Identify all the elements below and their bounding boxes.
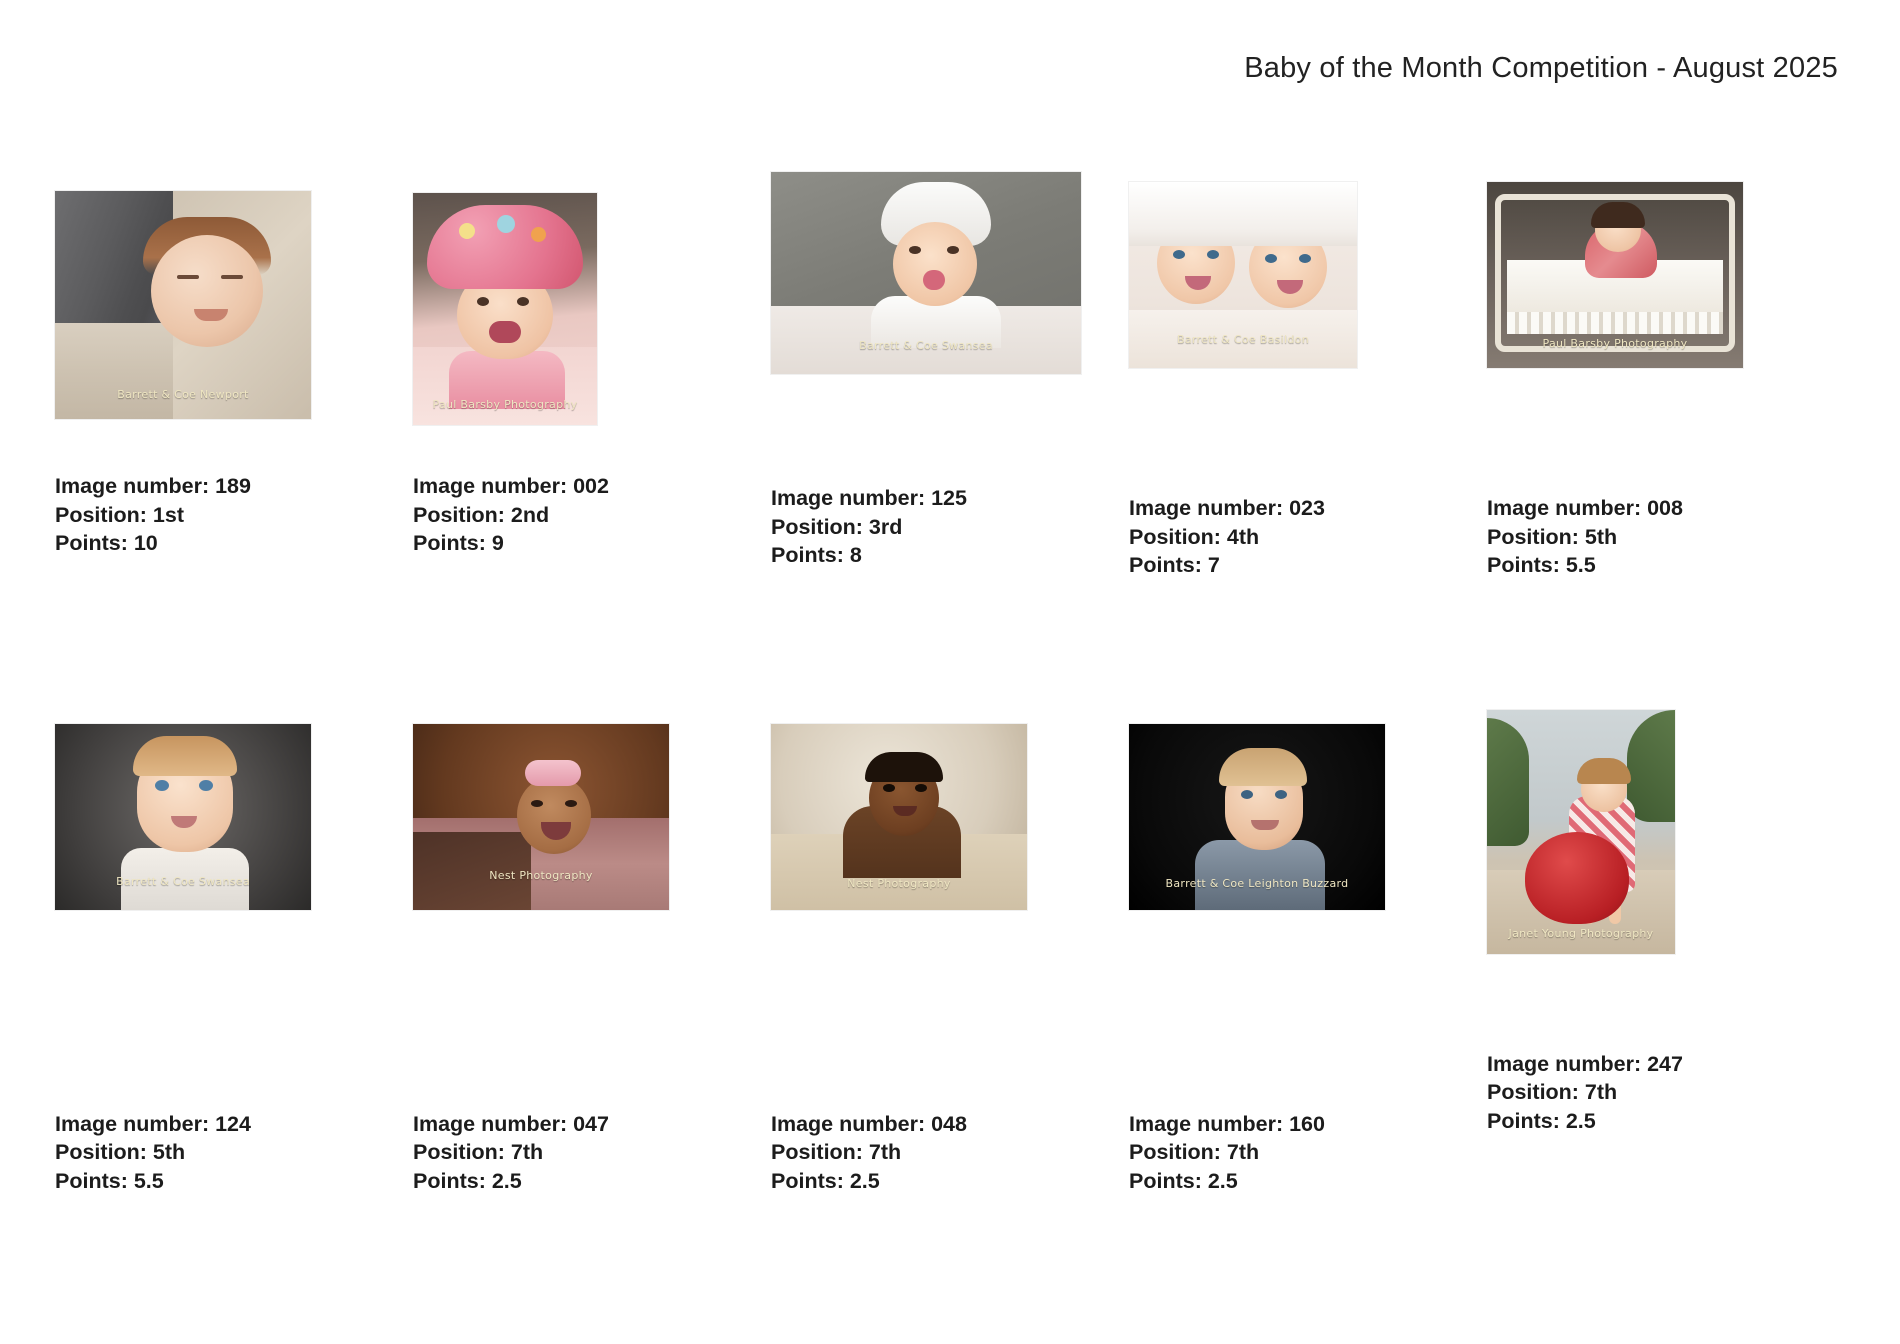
entry-photo[interactable]: Janet Young Photography [1487,710,1675,954]
caption-points: Points: 5.5 [1487,551,1845,580]
caption-position: Position: 5th [55,1138,413,1167]
gallery-entry[interactable]: Barrett & Coe Basildon Image number: 023… [1129,160,1487,580]
entry-caption: Image number: 125 Position: 3rd Points: … [771,484,1129,570]
entry-caption: Image number: 008 Position: 5th Points: … [1487,494,1845,580]
caption-image-number: Image number: 008 [1487,494,1845,523]
gallery-entry[interactable]: Barrett & Coe Leighton Buzzard Image num… [1129,708,1487,1196]
caption-image-number: Image number: 047 [413,1110,771,1139]
gallery-entry[interactable]: Nest Photography Image number: 048 Posit… [771,708,1129,1196]
caption-image-number: Image number: 247 [1487,1050,1845,1079]
entry-photo[interactable]: Barrett & Coe Leighton Buzzard [1129,724,1385,910]
caption-image-number: Image number: 189 [55,472,413,501]
gallery-entry[interactable]: Janet Young Photography Image number: 24… [1487,708,1845,1136]
caption-points: Points: 7 [1129,551,1487,580]
caption-points: Points: 8 [771,541,1129,570]
caption-position: Position: 7th [1129,1138,1487,1167]
photo-slot: Barrett & Coe Newport [55,160,365,450]
caption-points: Points: 10 [55,529,413,558]
caption-points: Points: 5.5 [55,1167,413,1196]
caption-points: Points: 2.5 [1487,1107,1845,1136]
gallery-entry[interactable]: Paul Barsby Photography Image number: 00… [1487,160,1845,580]
entry-photo[interactable]: Barrett & Coe Swansea [55,724,311,910]
page-title: Baby of the Month Competition - August 2… [1244,52,1838,85]
photo-slot: Barrett & Coe Leighton Buzzard [1129,708,1439,1014]
entry-photo[interactable]: Nest Photography [771,724,1027,910]
photo-slot: Barrett & Coe Swansea [55,708,365,1014]
caption-position: Position: 3rd [771,513,1129,542]
entry-photo[interactable]: Barrett & Coe Newport [55,191,311,419]
photo-slot: Nest Photography [413,708,723,1014]
entry-caption: Image number: 047 Position: 7th Points: … [413,1110,771,1196]
caption-position: Position: 4th [1129,523,1487,552]
gallery-row: Barrett & Coe Swansea Image number: 124 … [55,708,1845,1196]
caption-image-number: Image number: 125 [771,484,1129,513]
caption-image-number: Image number: 002 [413,472,771,501]
caption-position: Position: 5th [1487,523,1845,552]
entry-caption: Image number: 002 Position: 2nd Points: … [413,472,771,558]
entry-caption: Image number: 247 Position: 7th Points: … [1487,1050,1845,1136]
caption-image-number: Image number: 160 [1129,1110,1487,1139]
photo-slot: Janet Young Photography [1487,708,1797,1000]
caption-image-number: Image number: 124 [55,1110,413,1139]
photo-slot: Paul Barsby Photography [413,160,723,450]
entry-photo[interactable]: Barrett & Coe Swansea [771,172,1081,374]
caption-position: Position: 1st [55,501,413,530]
caption-position: Position: 7th [771,1138,1129,1167]
caption-points: Points: 2.5 [413,1167,771,1196]
photo-slot: Nest Photography [771,708,1081,1014]
gallery-row: Barrett & Coe Newport Image number: 189 … [55,160,1845,580]
caption-points: Points: 9 [413,529,771,558]
entry-caption: Image number: 048 Position: 7th Points: … [771,1110,1129,1196]
entry-photo[interactable]: Nest Photography [413,724,669,910]
entry-caption: Image number: 023 Position: 4th Points: … [1129,494,1487,580]
caption-position: Position: 7th [1487,1078,1845,1107]
entry-photo[interactable]: Paul Barsby Photography [413,193,597,425]
gallery-entry[interactable]: Barrett & Coe Swansea Image number: 124 … [55,708,413,1196]
gallery-entry[interactable]: Nest Photography Image number: 047 Posit… [413,708,771,1196]
gallery-entry[interactable]: Barrett & Coe Swansea Image number: 125 … [771,160,1129,570]
gallery-grid: Barrett & Coe Newport Image number: 189 … [55,160,1845,1196]
caption-points: Points: 2.5 [1129,1167,1487,1196]
photo-slot: Paul Barsby Photography [1487,160,1797,472]
photo-slot: Barrett & Coe Swansea [771,160,1081,462]
caption-image-number: Image number: 023 [1129,494,1487,523]
entry-photo[interactable]: Barrett & Coe Basildon [1129,182,1357,368]
caption-position: Position: 7th [413,1138,771,1167]
photo-slot: Barrett & Coe Basildon [1129,160,1439,472]
gallery-entry[interactable]: Barrett & Coe Newport Image number: 189 … [55,160,413,558]
caption-position: Position: 2nd [413,501,771,530]
entry-photo[interactable]: Paul Barsby Photography [1487,182,1743,368]
entry-caption: Image number: 124 Position: 5th Points: … [55,1110,413,1196]
entry-caption: Image number: 189 Position: 1st Points: … [55,472,413,558]
caption-points: Points: 2.5 [771,1167,1129,1196]
caption-image-number: Image number: 048 [771,1110,1129,1139]
entry-caption: Image number: 160 Position: 7th Points: … [1129,1110,1487,1196]
gallery-entry[interactable]: Paul Barsby Photography Image number: 00… [413,160,771,558]
